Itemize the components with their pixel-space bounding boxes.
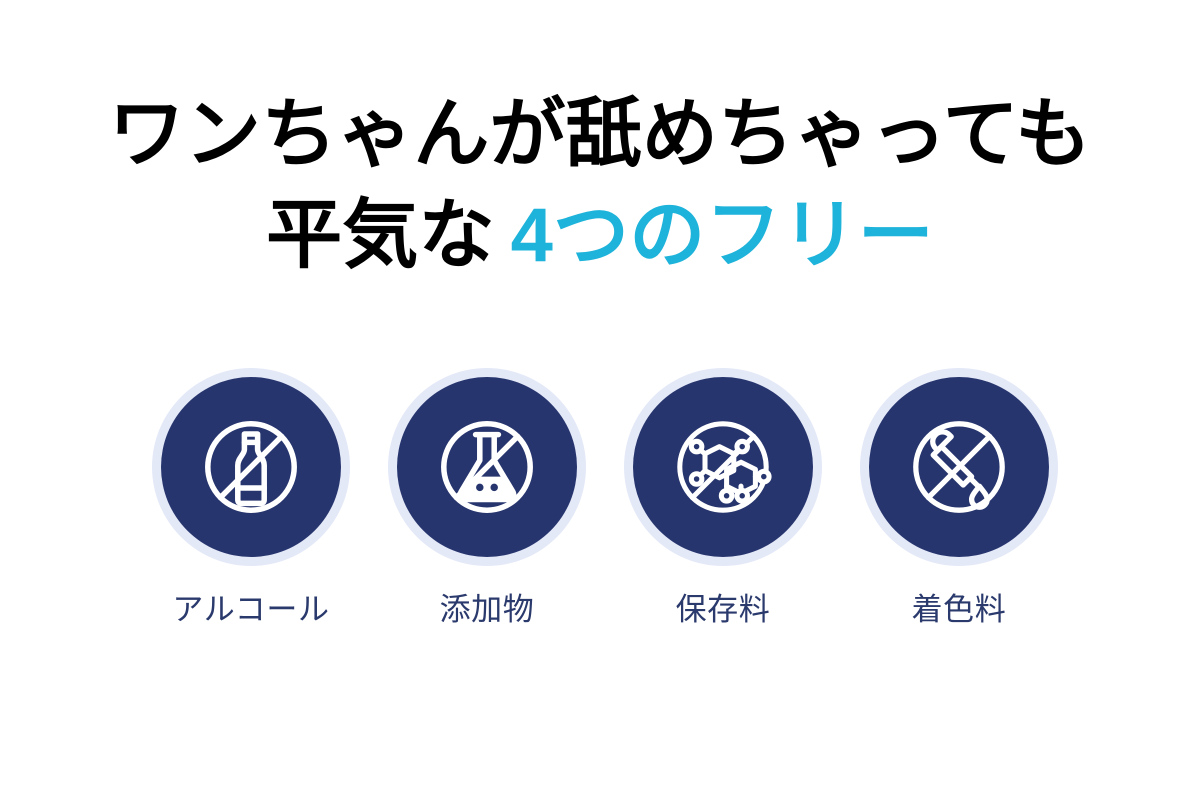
feature-label-additive: 添加物 bbox=[440, 594, 535, 625]
headline-line-2-accent: 4つのフリー bbox=[511, 193, 934, 278]
feature-label-preservative: 保存料 bbox=[676, 594, 771, 625]
no-alcohol-bottle-icon bbox=[191, 407, 311, 527]
headline-line-2: 平気な4つのフリー bbox=[0, 187, 1200, 284]
feature-badge-colorant bbox=[860, 368, 1058, 566]
feature-item-alcohol: アルコール bbox=[152, 368, 350, 625]
feature-disc-preservative bbox=[633, 377, 813, 557]
feature-disc-colorant bbox=[869, 377, 1049, 557]
no-additive-flask-icon bbox=[427, 407, 547, 527]
feature-disc-alcohol bbox=[161, 377, 341, 557]
feature-label-colorant: 着色料 bbox=[912, 594, 1007, 625]
feature-item-preservative: 保存料 bbox=[624, 368, 822, 625]
free-from-four-poster: ワンちゃんが舐めちゃっても 平気な4つのフリー bbox=[0, 0, 1200, 800]
feature-disc-additive bbox=[397, 377, 577, 557]
feature-icon-row: アルコール bbox=[152, 368, 1058, 625]
page-title: ワンちゃんが舐めちゃっても 平気な4つのフリー bbox=[0, 86, 1200, 285]
feature-item-colorant: 着色料 bbox=[860, 368, 1058, 625]
no-preservative-molecule-icon bbox=[663, 407, 783, 527]
feature-badge-preservative bbox=[624, 368, 822, 566]
no-colorant-dropper-icon bbox=[899, 407, 1019, 527]
headline-line-2-plain: 平気な bbox=[266, 193, 494, 278]
headline-line-1: ワンちゃんが舐めちゃっても bbox=[0, 86, 1200, 183]
feature-badge-additive bbox=[388, 368, 586, 566]
feature-label-alcohol: アルコール bbox=[172, 594, 329, 625]
feature-badge-alcohol bbox=[152, 368, 350, 566]
feature-item-additive: 添加物 bbox=[388, 368, 586, 625]
